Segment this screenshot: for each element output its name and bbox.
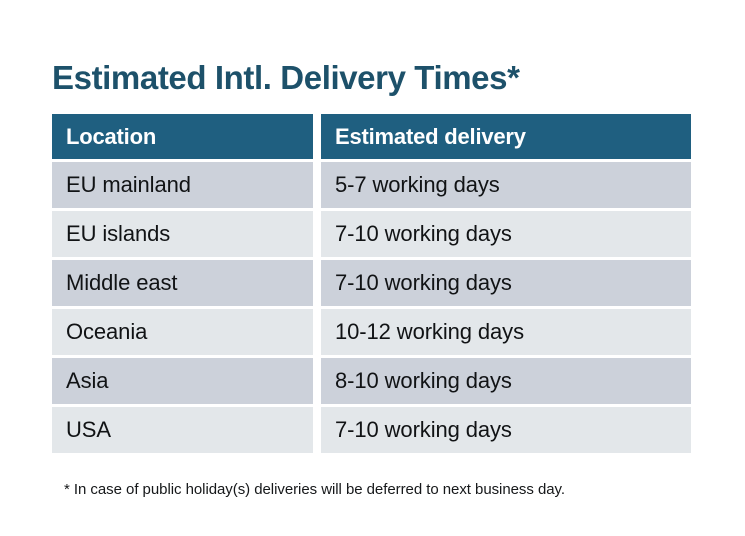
table-row: Oceania 10-12 working days xyxy=(52,309,691,355)
cell-estimated-delivery: 8-10 working days xyxy=(321,358,691,404)
cell-estimated-delivery: 7-10 working days xyxy=(321,407,691,453)
cell-estimated-delivery: 7-10 working days xyxy=(321,211,691,257)
column-header-location: Location xyxy=(52,114,313,159)
cell-location: Asia xyxy=(52,358,313,404)
column-header-estimated-delivery: Estimated delivery xyxy=(321,114,691,159)
table-row: Asia 8-10 working days xyxy=(52,358,691,404)
table-row: Middle east 7-10 working days xyxy=(52,260,691,306)
page-title: Estimated Intl. Delivery Times* xyxy=(52,58,520,98)
cell-estimated-delivery: 7-10 working days xyxy=(321,260,691,306)
cell-location: EU islands xyxy=(52,211,313,257)
cell-estimated-delivery: 10-12 working days xyxy=(321,309,691,355)
cell-location: Oceania xyxy=(52,309,313,355)
cell-location: Middle east xyxy=(52,260,313,306)
cell-estimated-delivery: 5-7 working days xyxy=(321,162,691,208)
table-header-row: Location Estimated delivery xyxy=(52,114,691,159)
delivery-times-table: Location Estimated delivery EU mainland … xyxy=(52,114,691,453)
footnote-text: * In case of public holiday(s) deliverie… xyxy=(64,481,565,498)
table-row: USA 7-10 working days xyxy=(52,407,691,453)
table-row: EU mainland 5-7 working days xyxy=(52,162,691,208)
delivery-times-page: Estimated Intl. Delivery Times* Location… xyxy=(0,0,745,536)
cell-location: EU mainland xyxy=(52,162,313,208)
cell-location: USA xyxy=(52,407,313,453)
table-row: EU islands 7-10 working days xyxy=(52,211,691,257)
